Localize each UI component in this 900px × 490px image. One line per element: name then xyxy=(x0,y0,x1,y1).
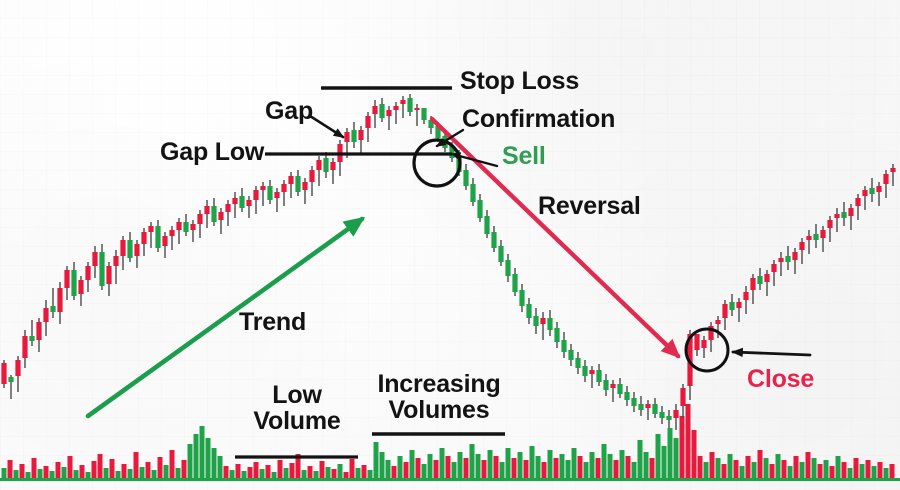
confirmation-label: Confirmation xyxy=(462,107,615,133)
sell-label: Sell xyxy=(502,144,546,170)
stop-loss-label: Stop Loss xyxy=(460,69,579,95)
reversal-label: Reversal xyxy=(538,194,641,220)
close-signal-circle xyxy=(686,329,728,371)
increasing-volumes-line2: Volumes xyxy=(368,398,510,424)
gap-low-label: Gap Low xyxy=(160,140,264,166)
close-label: Close xyxy=(747,367,814,393)
increasing-volumes-line1: Increasing xyxy=(368,372,510,398)
gap-arrow xyxy=(310,116,343,137)
low-volume-line2: Volume xyxy=(238,409,356,435)
low-volume-line1: Low xyxy=(238,383,356,409)
trading-chart-infographic: Stop Loss Gap Confirmation Gap Low Sell … xyxy=(0,0,900,490)
close-arrow xyxy=(733,352,810,355)
trend-label: Trend xyxy=(239,310,306,336)
gap-label: Gap xyxy=(265,99,313,125)
reversal-arrow xyxy=(432,119,678,356)
increasing-volumes-label: Increasing Volumes xyxy=(368,372,510,423)
low-volume-label: Low Volume xyxy=(238,383,356,434)
